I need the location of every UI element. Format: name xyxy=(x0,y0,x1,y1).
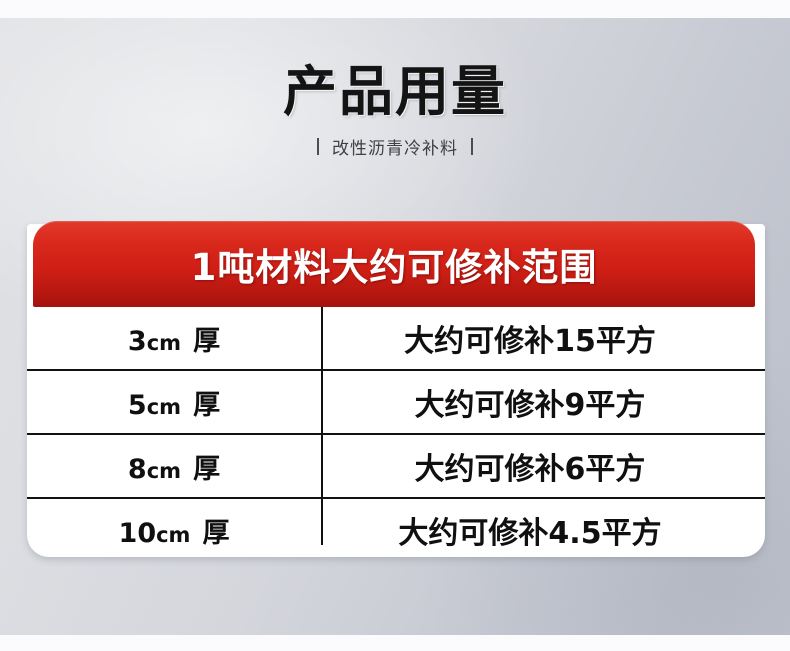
subtitle-label: 改性沥青冷补料 xyxy=(332,134,458,159)
thickness-unit: cm xyxy=(156,523,190,547)
subtitle-row: 改性沥青冷补料 xyxy=(0,134,790,159)
subtitle-right-rule-icon xyxy=(471,138,473,155)
table-row: 5cm厚 大约可修补9平方 xyxy=(27,371,765,435)
product-usage-infographic: 产品用量 改性沥青冷补料 1吨材料大约可修补范围 3cm厚 大约可修补15平方 … xyxy=(0,0,790,651)
table-row: 10cm厚 大约可修补4.5平方 xyxy=(27,499,765,561)
coverage-table-card: 1吨材料大约可修补范围 3cm厚 大约可修补15平方 5cm厚 大约可修补9平方… xyxy=(27,224,765,557)
table-cell-thickness: 3cm厚 xyxy=(27,319,321,358)
table-cell-coverage: 大约可修补15平方 xyxy=(321,316,765,360)
table-row: 3cm厚 大约可修补15平方 xyxy=(27,307,765,371)
page-title: 产品用量 xyxy=(0,62,790,122)
table-cell-thickness: 10cm厚 xyxy=(27,511,321,550)
thickness-unit: cm xyxy=(147,459,181,483)
table-cell-coverage: 大约可修补9平方 xyxy=(321,380,765,424)
thickness-suffix: 厚 xyxy=(193,390,220,421)
subtitle-left-rule-icon xyxy=(317,138,319,155)
table-cell-thickness: 5cm厚 xyxy=(27,383,321,422)
coverage-table: 3cm厚 大约可修补15平方 5cm厚 大约可修补9平方 8cm厚 大约可修补6… xyxy=(27,307,765,557)
thickness-suffix: 厚 xyxy=(193,454,220,485)
thickness-value: 3 xyxy=(128,326,147,357)
table-cell-coverage: 大约可修补6平方 xyxy=(321,444,765,488)
table-row: 8cm厚 大约可修补6平方 xyxy=(27,435,765,499)
heading-block: 产品用量 改性沥青冷补料 xyxy=(0,62,790,159)
table-cell-thickness: 8cm厚 xyxy=(27,447,321,486)
thickness-suffix: 厚 xyxy=(193,326,220,357)
thickness-value: 8 xyxy=(128,454,147,485)
thickness-value: 5 xyxy=(128,390,147,421)
thickness-unit: cm xyxy=(147,331,181,355)
table-cell-coverage: 大约可修补4.5平方 xyxy=(321,508,765,552)
table-banner: 1吨材料大约可修补范围 xyxy=(33,221,755,307)
thickness-unit: cm xyxy=(147,395,181,419)
thickness-suffix: 厚 xyxy=(202,518,229,549)
thickness-value: 10 xyxy=(119,518,157,549)
table-banner-label: 1吨材料大约可修补范围 xyxy=(191,237,598,291)
